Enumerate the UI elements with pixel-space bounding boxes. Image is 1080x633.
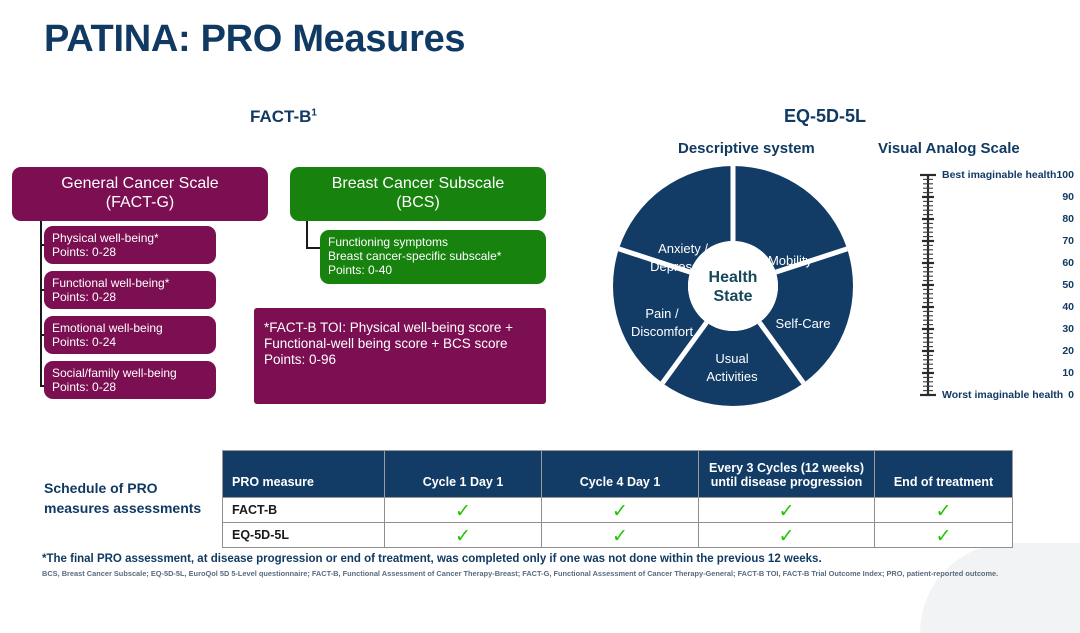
vas-svg [884,163,1074,413]
table-header-cycle1day1[interactable]: Cycle 1 Day 1 [385,451,542,498]
factb-section-heading: FACT-B1 [250,107,317,127]
vas-caption-worst: Worst imaginable health [942,389,1063,401]
breast-subscale-detail-line2: Breast cancer-specific subscale* [328,249,546,263]
table-header-pro-measure[interactable]: PRO measure [223,451,385,498]
fact-b-toi-line1: *FACT-B TOI: Physical well-being score + [264,320,546,336]
fact-b-toi-box[interactable]: *FACT-B TOI: Physical well-being score +… [254,308,546,404]
breast-cancer-subscale-line1: Breast Cancer Subscale [332,175,505,194]
vas-tick-label-80: 80 [1048,213,1074,225]
svg-text:Discomfort: Discomfort [631,324,694,339]
table-cell-fact-b-every3cycles: ✓ [699,498,875,523]
check-icon: ✓ [936,502,952,521]
table-row: FACT-B ✓ ✓ ✓ ✓ [223,498,1013,523]
slide-canvas: PATINA: PRO Measures FACT-B1 General Can… [0,0,1080,593]
table-header-every-3-cycles[interactable]: Every 3 Cycles (12 weeks) until disease … [699,451,875,498]
table-cell-eq5d5l-cycle4day1: ✓ [542,523,699,548]
breast-subscale-detail-box[interactable]: Functioning symptoms Breast cancer-speci… [320,230,546,284]
subscale-item-emotional-points: Points: 0-24 [52,335,216,349]
svg-text:Depression: Depression [650,259,716,274]
table-cell-measure-fact-b: FACT-B [223,498,385,523]
table-cell-fact-b-cycle1day1: ✓ [385,498,542,523]
vas-tick-label-20: 20 [1048,345,1074,357]
vas-tick-label-50: 50 [1048,279,1074,291]
subscale-item-social-family[interactable]: Social/family well-being Points: 0-28 [44,361,216,399]
schedule-label-line1: Schedule of PRO [44,478,224,498]
donut-label-mobility: Mobility [768,253,813,268]
subscale-item-physical-name: Physical well-being* [52,231,216,245]
factb-heading-superscript: 1 [311,107,317,118]
table-cell-eq5d5l-endoftreatment: ✓ [875,523,1013,548]
svg-text:Activities: Activities [706,369,758,384]
table-row: EQ-5D-5L ✓ ✓ ✓ ✓ [223,523,1013,548]
breast-subscale-detail-line3: Points: 0-40 [328,263,546,277]
svg-text:Pain /: Pain / [645,306,679,321]
subscale-item-emotional-name: Emotional well-being [52,321,216,335]
footnote-primary: *The final PRO assessment, at disease pr… [42,553,822,565]
check-icon: ✓ [612,502,628,521]
schedule-table-wrapper: PRO measure Cycle 1 Day 1 Cycle 4 Day 1 … [222,450,1012,548]
schedule-label-line2: measures assessments [44,498,224,518]
breast-cancer-subscale-box[interactable]: Breast Cancer Subscale (BCS) [290,167,546,221]
subscale-item-social-family-name: Social/family well-being [52,366,216,380]
visual-analog-scale[interactable]: 100 90 80 70 60 50 40 30 20 10 0 Best im… [884,163,1074,413]
table-header-cycle4day1[interactable]: Cycle 4 Day 1 [542,451,699,498]
page-title: PATINA: PRO Measures [44,18,465,61]
vas-tick-label-60: 60 [1048,257,1074,269]
donut-svg: Health State Mobility Self-Care Usual Ac… [610,163,890,409]
donut-center-label-line2: State [713,288,752,305]
visual-analog-scale-heading: Visual Analog Scale [878,140,1020,157]
check-icon: ✓ [455,527,471,546]
subscale-item-social-family-points: Points: 0-28 [52,380,216,394]
table-cell-eq5d5l-every3cycles: ✓ [699,523,875,548]
fact-b-toi-line2: Functional-well being score + BCS score [264,336,546,352]
check-icon: ✓ [612,527,628,546]
check-icon: ✓ [455,502,471,521]
general-cancer-scale-box[interactable]: General Cancer Scale (FACT-G) [12,167,268,221]
check-icon: ✓ [779,502,795,521]
vas-caption-best: Best imaginable health [942,169,1056,181]
donut-label-self-care: Self-Care [776,316,831,331]
connector-vertical-bcs [306,221,308,249]
eq5d-descriptive-donut: Health State Mobility Self-Care Usual Ac… [610,163,890,409]
subscale-item-physical[interactable]: Physical well-being* Points: 0-28 [44,226,216,264]
subscale-item-physical-points: Points: 0-28 [52,245,216,259]
table-header-end-of-treatment[interactable]: End of treatment [875,451,1013,498]
svg-text:Anxiety /: Anxiety / [658,241,708,256]
table-cell-eq5d5l-cycle1day1: ✓ [385,523,542,548]
table-cell-fact-b-endoftreatment: ✓ [875,498,1013,523]
fact-b-toi-line3: Points: 0-96 [264,352,546,368]
subscale-item-functional[interactable]: Functional well-being* Points: 0-28 [44,271,216,309]
subscale-item-emotional[interactable]: Emotional well-being Points: 0-24 [44,316,216,354]
svg-text:Usual: Usual [715,351,748,366]
breast-cancer-subscale-line2: (BCS) [396,194,440,213]
check-icon: ✓ [936,527,952,546]
vas-tick-label-70: 70 [1048,235,1074,247]
schedule-label: Schedule of PRO measures assessments [44,478,224,519]
descriptive-system-heading: Descriptive system [678,140,815,157]
eq5d-section-heading: EQ-5D-5L [784,106,866,127]
factb-heading-text: FACT-B [250,107,311,126]
subscale-item-functional-name: Functional well-being* [52,276,216,290]
general-cancer-scale-line2: (FACT-G) [106,194,174,213]
vas-tick-label-40: 40 [1048,301,1074,313]
decorative-corner-curve [920,543,1080,633]
footnote-abbreviations: BCS, Breast Cancer Subscale; EQ-5D-5L, E… [42,568,1022,579]
general-cancer-scale-line1: General Cancer Scale [61,175,218,194]
breast-subscale-detail-line1: Functioning symptoms [328,235,546,249]
table-header-row: PRO measure Cycle 1 Day 1 Cycle 4 Day 1 … [223,451,1013,498]
table-cell-measure-eq5d5l: EQ-5D-5L [223,523,385,548]
vas-tick-label-30: 30 [1048,323,1074,335]
vas-tick-label-10: 10 [1048,367,1074,379]
schedule-table: PRO measure Cycle 1 Day 1 Cycle 4 Day 1 … [222,450,1013,548]
table-cell-fact-b-cycle4day1: ✓ [542,498,699,523]
subscale-item-functional-points: Points: 0-28 [52,290,216,304]
check-icon: ✓ [779,527,795,546]
vas-tick-label-90: 90 [1048,191,1074,203]
